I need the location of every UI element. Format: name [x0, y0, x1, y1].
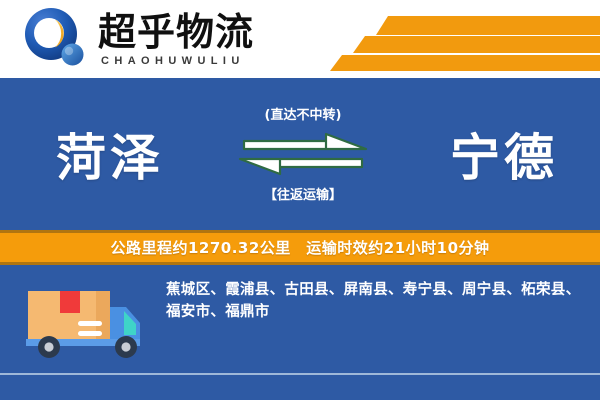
brand-wordmark: 超乎物流 CHAOHUWULIU	[98, 11, 254, 68]
direct-route-note: (直达不中转)	[228, 104, 378, 123]
round-trip-note: 【往返运输】	[228, 184, 378, 203]
orange-speed-stripes-icon	[330, 8, 600, 72]
origin-city: 菏泽	[56, 118, 164, 190]
brand-logo-block: 超乎物流 CHAOHUWULIU	[22, 6, 254, 72]
delivery-truck-icon	[22, 277, 154, 363]
chaohu-circle-logo-icon	[22, 6, 88, 72]
coverage-panel: 蕉城区、霞浦县、古田县、屏南县、寿宁县、周宁县、柘荣县、福安市、福鼎市	[0, 265, 600, 373]
bidirectional-arrow-icon	[226, 130, 380, 183]
brand-name-en: CHAOHUWULIU	[98, 55, 254, 67]
distance-duration-bar: 公路里程约1270.32公里 运输时效约21小时10分钟	[0, 233, 600, 262]
brand-name-cn: 超乎物流	[98, 13, 254, 53]
distance-duration-text: 公路里程约1270.32公里 运输时效约21小时10分钟	[110, 237, 489, 258]
coverage-regions-text: 蕉城区、霞浦县、古田县、屏南县、寿宁县、周宁县、柘荣县、福安市、福鼎市	[166, 279, 586, 324]
logistics-route-banner: 超乎物流 CHAOHUWULIU 菏泽 (直达不中转)	[0, 0, 600, 400]
destination-city: 宁德	[450, 118, 558, 190]
route-panel: 菏泽 (直达不中转) 【往返运输】 宁德	[0, 78, 600, 230]
header: 超乎物流 CHAOHUWULIU	[0, 0, 600, 78]
footer-strip	[0, 375, 600, 400]
route-arrow-group: (直达不中转) 【往返运输】	[228, 100, 378, 210]
